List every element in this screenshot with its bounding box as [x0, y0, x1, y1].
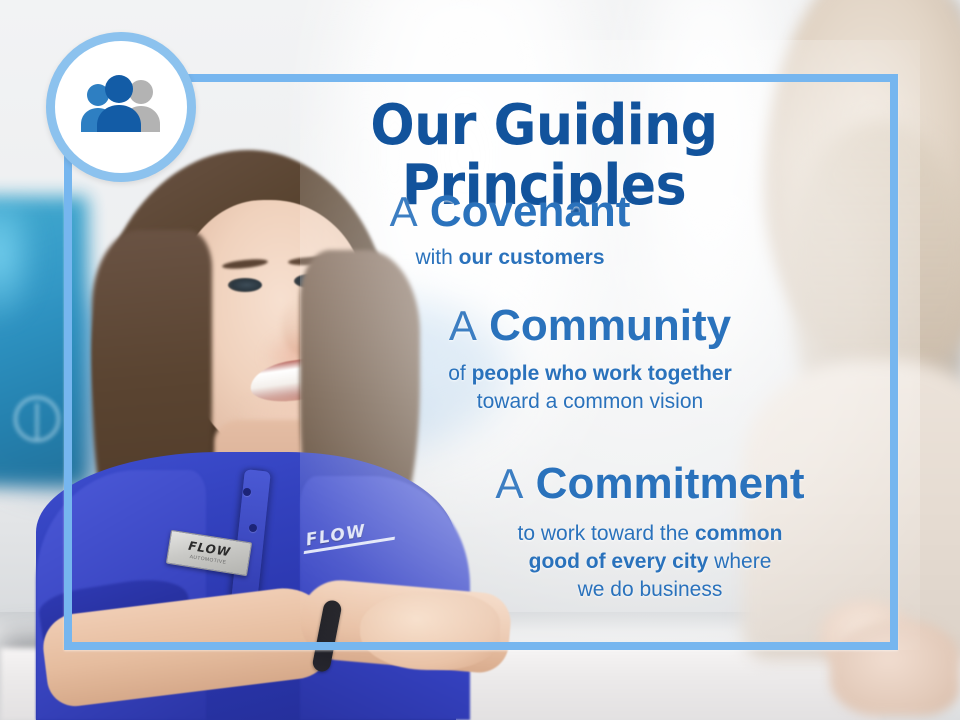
plain-text: with — [415, 246, 458, 269]
principle-commitment: A Commitment to work toward the commongo… — [440, 458, 860, 604]
plain-text: to work toward the — [518, 522, 695, 545]
emphasis-text: people who work together — [472, 362, 732, 385]
customer-hand — [830, 620, 960, 716]
people-group-badge — [46, 32, 196, 182]
principle-article: A — [495, 460, 523, 507]
polo-button — [243, 488, 251, 496]
principle-subtext-line: of people who work together — [390, 360, 790, 388]
principle-subtext-line: to work toward the common — [440, 520, 860, 548]
banner-graphic: FLOW FLOW AUTOMOTIVE Our — [0, 0, 960, 720]
principle-word: Community — [489, 301, 731, 350]
emphasis-text: our customers — [459, 246, 605, 269]
principle-heading: A Commitment — [440, 458, 860, 510]
principle-subtext: of people who work togethertoward a comm… — [390, 360, 790, 416]
principle-article: A — [449, 302, 477, 349]
plain-text: of — [448, 362, 471, 385]
plain-text: where — [708, 550, 771, 573]
principle-subtext: with our customers — [340, 244, 680, 272]
polo-button — [249, 524, 257, 532]
principle-community: A Community of people who work togethert… — [390, 300, 790, 416]
principle-subtext-line: good of every city where — [440, 548, 860, 576]
principle-subtext-line: we do business — [440, 576, 860, 604]
principle-word: Covenant — [430, 187, 630, 236]
emphasis-text: good of every city — [529, 550, 709, 573]
principle-covenant: A Covenant with our customers — [340, 186, 680, 272]
principle-subtext: to work toward the commongood of every c… — [440, 520, 860, 604]
principle-heading: A Community — [390, 300, 790, 352]
emphasis-text: common — [695, 522, 783, 545]
principle-subtext-line: with our customers — [340, 244, 680, 272]
principle-subtext-line: toward a common vision — [390, 388, 790, 416]
people-group-icon — [73, 74, 169, 140]
plain-text: we do business — [578, 578, 723, 601]
principle-heading: A Covenant — [340, 186, 680, 238]
plain-text: toward a common vision — [477, 390, 703, 413]
employee-eye-left — [228, 278, 262, 292]
principle-article: A — [390, 188, 418, 235]
principle-word: Commitment — [536, 459, 805, 508]
